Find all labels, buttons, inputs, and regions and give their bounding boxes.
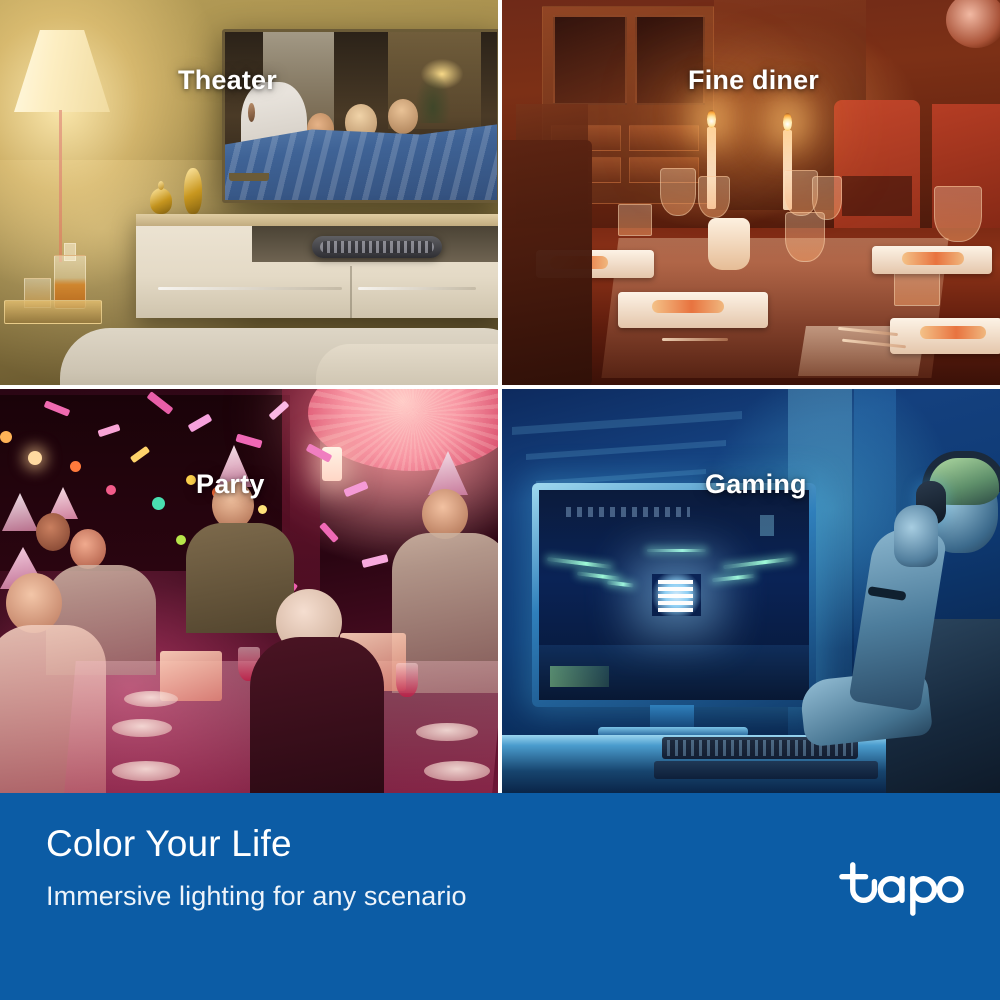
water-tumbler <box>618 204 652 236</box>
plated-food <box>920 326 986 339</box>
game-ceiling-light <box>647 549 706 552</box>
cabinet-drawer <box>629 125 699 151</box>
guest-head <box>422 489 468 539</box>
ceramic-jug <box>708 218 750 270</box>
scene-party: Party <box>0 389 498 793</box>
guest-head <box>6 573 62 633</box>
candle-flame-right <box>783 113 792 131</box>
party-plate <box>112 761 180 781</box>
media-console <box>136 214 498 318</box>
guest-head <box>36 513 70 551</box>
scene-grid: Theater <box>0 0 1000 793</box>
banner-subheadline: Immersive lighting for any scenario <box>46 881 467 912</box>
confetti-dot <box>28 451 42 465</box>
confetti-dot <box>106 485 116 495</box>
scene-label-theater: Theater <box>178 65 277 96</box>
confetti-dot <box>152 497 165 510</box>
party-plate <box>416 723 478 741</box>
console-drawer-handle-right <box>358 287 476 290</box>
wine-glass <box>660 168 696 216</box>
confetti-dot <box>258 505 267 514</box>
game-tunnel-light <box>547 557 612 569</box>
confetti-dot <box>176 535 186 545</box>
game-hud-top <box>566 507 690 518</box>
game-tunnel-door <box>658 580 693 612</box>
party-plate <box>424 761 490 781</box>
sofa-cushion <box>316 344 498 385</box>
banner-headline: Color Your Life <box>46 823 292 865</box>
confetti-dot <box>70 461 81 472</box>
tv-stand <box>229 173 269 181</box>
promo-image: Theater <box>0 0 1000 1000</box>
knife <box>662 338 728 341</box>
wine-glass <box>396 663 418 697</box>
dining-chair-foreground-left <box>502 140 592 385</box>
tv-scene-father-head <box>248 103 255 122</box>
scene-label-fine-diner: Fine diner <box>688 65 819 96</box>
gold-ornament-left <box>150 188 172 214</box>
game-hud-right <box>760 515 774 536</box>
game-tunnel-light <box>577 571 620 580</box>
floor-lamp-pole <box>59 110 62 262</box>
plated-food <box>902 252 964 265</box>
scene-gaming: Gaming <box>502 389 1000 793</box>
guest-head <box>70 529 106 569</box>
game-tunnel-light <box>712 574 755 582</box>
scene-theater: Theater <box>0 0 498 385</box>
game-tunnel-light <box>606 581 633 588</box>
monitor-screen <box>539 490 809 700</box>
game-minimap <box>550 666 609 687</box>
foreground-guest-body <box>250 637 384 793</box>
gaming-monitor <box>532 483 816 707</box>
cabinet-glass-door-left <box>553 15 627 105</box>
party-plate <box>124 691 178 707</box>
wine-glass <box>934 186 982 242</box>
plated-food <box>652 300 724 313</box>
scene-fine-diner: Fine diner <box>502 0 1000 385</box>
candle-flame-left <box>707 110 716 128</box>
scene-label-gaming: Gaming <box>705 469 807 500</box>
tv-scene-plant <box>415 72 450 122</box>
party-plate <box>112 719 172 737</box>
console-drawer-handle-left <box>158 287 342 290</box>
wine-glass <box>698 176 730 218</box>
mousepad <box>654 761 878 779</box>
console-divider <box>350 266 352 318</box>
tapo-logo <box>838 853 966 925</box>
soundbar <box>312 236 442 258</box>
confetti-dot <box>186 475 196 485</box>
game-tunnel-light <box>723 557 793 570</box>
wine-glass <box>785 212 825 262</box>
gamer-hand <box>894 505 938 567</box>
scene-label-party: Party <box>196 469 265 500</box>
gold-tray <box>4 300 102 324</box>
console-top <box>136 214 498 226</box>
bottom-banner: Color Your Life Immersive lighting for a… <box>0 793 1000 1000</box>
confetti-dot <box>0 431 12 443</box>
gold-ornament-right <box>184 168 202 214</box>
